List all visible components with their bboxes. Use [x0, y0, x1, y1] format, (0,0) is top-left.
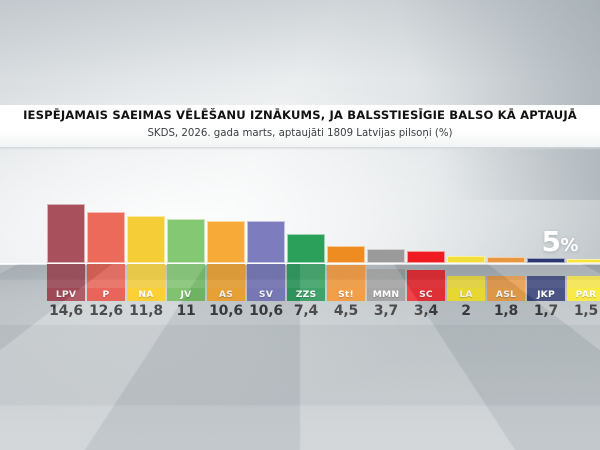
bar-group[interactable]: St!4,5 [327, 0, 365, 450]
bar-group[interactable]: SV10,6 [247, 0, 285, 450]
bar-key-label: SV [247, 288, 285, 301]
bar-segment-below [447, 276, 485, 288]
bar-segment-above [207, 221, 245, 263]
bar-group[interactable]: JKP1,7 [527, 0, 565, 450]
bar-key-label: ZZS [287, 288, 325, 301]
bar-segment-below [567, 276, 600, 288]
bar-segment-above [127, 216, 165, 263]
bar-group[interactable]: ZZS7,4 [287, 0, 325, 450]
bar-segment-below [487, 276, 525, 288]
bar-group[interactable]: MMN3,7 [367, 0, 405, 450]
bar-segment-below [287, 264, 325, 288]
bar-value-label: 1,5 [561, 303, 600, 319]
bar-key-label: NA [127, 288, 165, 301]
bar-segment-above [87, 212, 125, 263]
bar-key-label: LPV [47, 288, 85, 301]
bar-key-label: LA [447, 288, 485, 301]
bar-key-label: ASL [487, 288, 525, 301]
poll-graphic: IESPĒJAMAIS SAEIMAS VĒLĒŠANU IZNĀKUMS, J… [0, 0, 600, 450]
bar-segment-above [527, 258, 565, 263]
bar-key-label: JV [167, 288, 205, 301]
bar-segment-above [327, 246, 365, 263]
bar-key-label: PAR [567, 288, 600, 301]
bar-segment-below [87, 264, 125, 288]
bar-segment-above [287, 234, 325, 263]
bar-group[interactable]: ASL1,8 [487, 0, 525, 450]
bar-segment-below [207, 264, 245, 288]
bar-group[interactable]: LA2 [447, 0, 485, 450]
bar-segment-below [367, 269, 405, 288]
bar-group[interactable]: PAR1,5 [567, 0, 600, 450]
bar-group[interactable]: NA11,8 [127, 0, 165, 450]
bar-key-label: P [87, 288, 125, 301]
bar-group[interactable]: JV11 [167, 0, 205, 450]
bar-key-label: St! [327, 288, 365, 301]
bar-segment-above [487, 257, 525, 263]
bar-group[interactable]: P12,6 [87, 0, 125, 450]
bar-segment-above [447, 256, 485, 263]
bar-segment-above [567, 259, 600, 263]
bar-segment-above [367, 249, 405, 263]
bar-key-label: AS [207, 288, 245, 301]
bar-key-label: SC [407, 288, 445, 301]
bar-segment-below [527, 276, 565, 288]
bar-segment-below [407, 270, 445, 288]
bar-chart: LPV14,6P12,6NA11,8JV11AS10,6SV10,6ZZS7,4… [0, 0, 600, 450]
bar-group[interactable]: SC3,4 [407, 0, 445, 450]
bar-segment-below [247, 264, 285, 288]
bar-key-label: JKP [527, 288, 565, 301]
bar-segment-below [167, 264, 205, 288]
bar-segment-above [47, 204, 85, 263]
bar-key-label: MMN [367, 288, 405, 301]
bar-group[interactable]: LPV14,6 [47, 0, 85, 450]
bar-segment-below [327, 265, 365, 288]
bar-group[interactable]: AS10,6 [207, 0, 245, 450]
bar-segment-above [167, 219, 205, 263]
bar-segment-above [247, 221, 285, 263]
bar-segment-above [407, 251, 445, 263]
bar-segment-below [127, 264, 165, 288]
bar-segment-below [47, 264, 85, 288]
